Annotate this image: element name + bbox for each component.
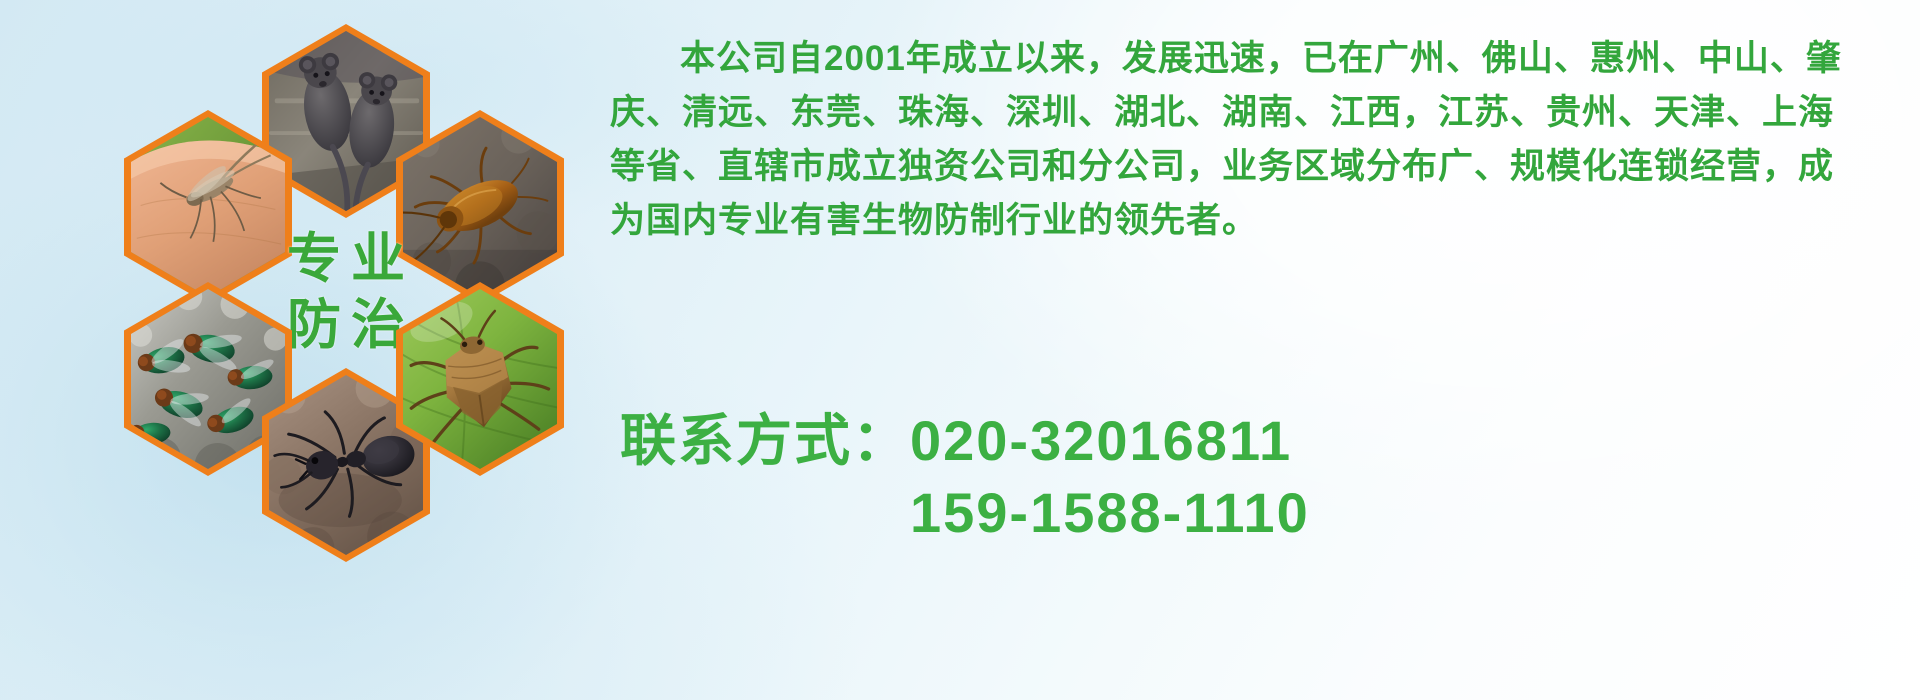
mosquito-photo-art	[131, 117, 285, 297]
contact-phone-primary[interactable]: 020-32016811	[910, 409, 1292, 472]
contact-label: 联系方式：	[620, 409, 910, 472]
hex-photo-stink-bug-inner	[403, 289, 557, 469]
intro-paragraph: 本公司自2001年成立以来，发展迅速，已在广州、佛山、惠州、中山、肇庆、清远、东…	[610, 32, 1855, 248]
hex-photo-mosquito-inner	[131, 117, 285, 297]
contact-secondary-line: 159-1588-1110	[620, 477, 1900, 549]
promo-banner: 专业 防治	[0, 0, 1920, 700]
hexagon-photo-cluster: 专业 防治	[96, 10, 596, 570]
stink-bug-photo-art	[403, 289, 557, 469]
hex-photo-flies-inner	[131, 289, 285, 469]
flies-photo-art	[131, 289, 285, 469]
badge-line-2: 防治	[277, 293, 415, 359]
contact-phone-secondary[interactable]: 159-1588-1110	[910, 481, 1310, 544]
badge-line-1: 专业	[277, 227, 415, 293]
intro-copy-block: 本公司自2001年成立以来，发展迅速，已在广州、佛山、惠州、中山、肇庆、清远、东…	[610, 32, 1890, 248]
contact-primary-line: 联系方式：020-32016811	[620, 405, 1900, 477]
contact-block: 联系方式：020-32016811 159-1588-1110	[620, 405, 1900, 549]
